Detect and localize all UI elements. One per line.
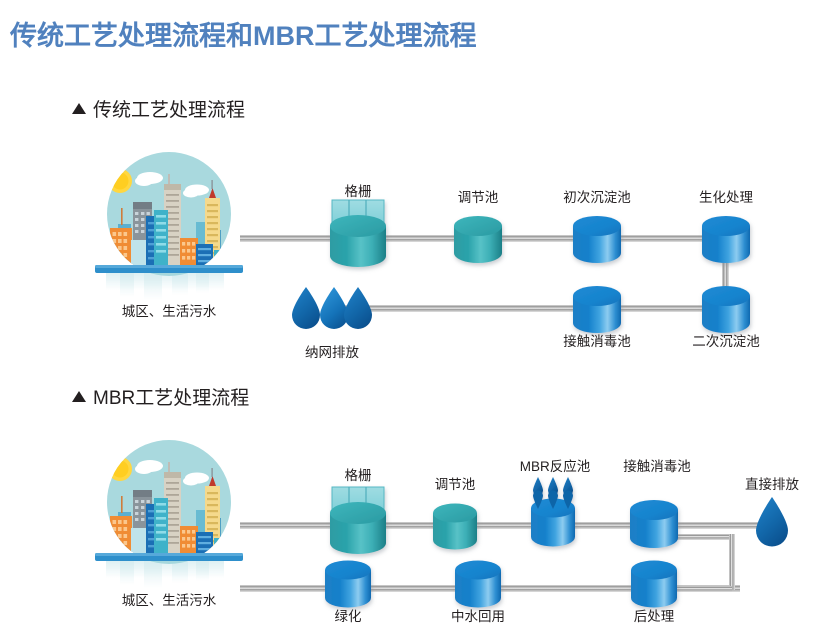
- tank-mbr-reactor: [531, 477, 575, 547]
- tank-primary-sedimentation: [573, 216, 621, 263]
- pipe-row-2-bottom: [240, 585, 740, 592]
- page-title: 传统工艺处理流程和MBR工艺处理流程: [10, 14, 477, 53]
- label-contact-disinfection-traditional: 接触消毒池: [563, 330, 631, 350]
- city-illustration-svg: [84, 152, 254, 302]
- tank-contact-disinfection-traditional: [573, 286, 621, 333]
- tank-equalization-traditional: [454, 216, 502, 263]
- triangle-bullet-icon: [72, 391, 86, 402]
- source-label-traditional: 城区、生活污水: [122, 300, 217, 320]
- tank-reclaimed-water: [455, 561, 501, 608]
- pipe-return-loop: [672, 534, 735, 592]
- pipe-row-2-top: [240, 522, 765, 529]
- tank-secondary-sedimentation: [702, 286, 750, 333]
- label-network-discharge: 纳网排放: [305, 341, 359, 361]
- source-label-mbr: 城区、生活污水: [122, 589, 217, 609]
- slide-canvas: 传统工艺处理流程和MBR工艺处理流程 传统工艺处理流程 MBR工艺处理流程: [0, 0, 832, 642]
- water-drops-icon-network-discharge: [292, 287, 372, 329]
- section-title-traditional: 传统工艺处理流程: [93, 95, 245, 122]
- label-equalization-mbr: 调节池: [435, 473, 476, 493]
- tank-contact-disinfection-mbr: [630, 500, 678, 548]
- tank-grate-mbr: [330, 487, 386, 554]
- label-grate-mbr: 格栅: [345, 464, 372, 484]
- section-header-mbr: MBR工艺处理流程: [72, 383, 249, 410]
- water-drop-icon-direct-discharge: [756, 497, 788, 547]
- section-header-traditional: 传统工艺处理流程: [72, 95, 245, 122]
- label-biological-treatment: 生化处理: [699, 186, 753, 206]
- label-mbr-reactor: MBR反应池: [520, 455, 591, 475]
- pipe-row-1-bottom: [340, 305, 740, 312]
- membrane-drops-icon: [533, 477, 573, 509]
- triangle-bullet-icon: [72, 103, 86, 114]
- pipe-vertical-bio-to-secondary: [722, 252, 729, 302]
- tank-biological-treatment: [702, 216, 750, 263]
- pipe-row-1-top: [240, 235, 740, 242]
- label-post-treatment: 后处理: [634, 605, 675, 625]
- tank-grate-traditional: [330, 200, 386, 267]
- tank-equalization-mbr: [433, 504, 477, 550]
- label-grate-traditional: 格栅: [345, 180, 372, 200]
- label-contact-disinfection-mbr: 接触消毒池: [623, 455, 691, 475]
- label-reclaimed-water: 中水回用: [451, 605, 505, 625]
- label-greening: 绿化: [335, 605, 362, 625]
- label-primary-sedimentation: 初次沉淀池: [563, 186, 631, 206]
- label-secondary-sedimentation: 二次沉淀池: [692, 330, 760, 350]
- tank-greening: [325, 561, 371, 608]
- city-illustration: [84, 152, 254, 302]
- city-illustration-svg: [84, 440, 254, 590]
- section-title-mbr: MBR工艺处理流程: [93, 383, 249, 410]
- city-illustration: [84, 440, 254, 590]
- label-equalization-traditional: 调节池: [458, 186, 499, 206]
- tank-post-treatment: [631, 561, 677, 608]
- label-direct-discharge: 直接排放: [745, 473, 799, 493]
